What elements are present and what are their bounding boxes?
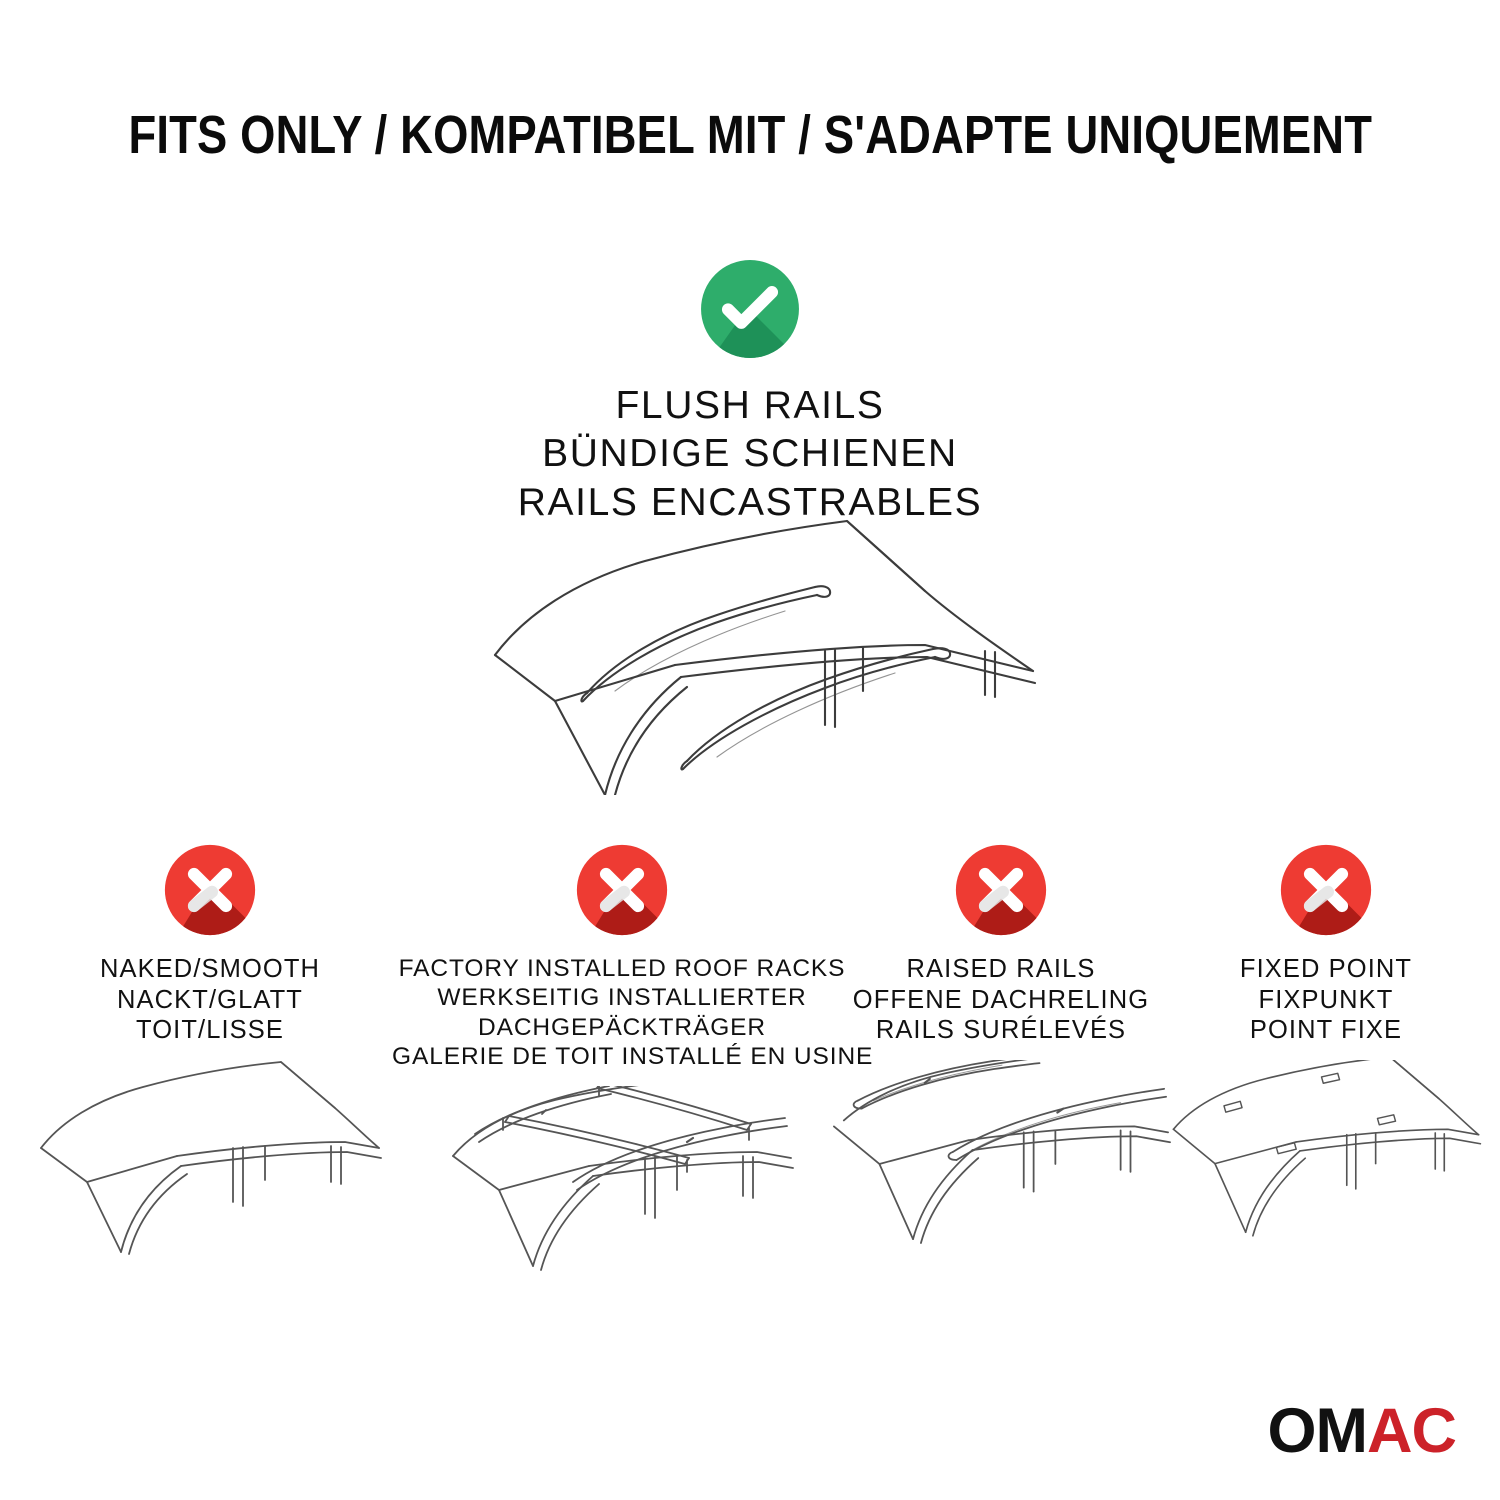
incompatible-section: NAKED/SMOOTH NACKT/GLATT TOIT/LISSE [0,843,1500,1293]
label-fr: GALERIE DE TOIT INSTALLÉ EN USINE [392,1042,852,1071]
label-en: NAKED/SMOOTH [35,954,385,985]
omac-logo: OMAC [1268,1400,1456,1462]
incompatible-labels: FACTORY INSTALLED ROOF RACKS WERKSEITIG … [392,951,852,1072]
green-check-circle-icon [699,258,801,360]
compatible-section: FLUSH RAILS BÜNDIGE SCHIENEN RAILS ENCAS… [0,258,1500,527]
infographic-page: FITS ONLY / KOMPATIBEL MIT / S'ADAPTE UN… [0,0,1500,1500]
label-fr: RAILS SURÉLEVÉS [828,1015,1174,1046]
omac-logo-red-part: AC [1367,1400,1456,1463]
car-roof-with-raised-rails-illustration [828,1060,1174,1260]
label-de-2: DACHGEPÄCKTRÄGER [392,1013,852,1042]
incompatible-item-fixed-point: FIXED POINT FIXPUNKT POINT FIXE [1168,843,1484,1265]
car-roof-with-fixed-points-illustration [1168,1060,1484,1260]
incompatible-labels: NAKED/SMOOTH NACKT/GLATT TOIT/LISSE [35,951,385,1046]
incompatible-labels: RAISED RAILS OFFENE DACHRELING RAILS SUR… [828,951,1174,1046]
incompatible-item-naked-smooth: NAKED/SMOOTH NACKT/GLATT TOIT/LISSE [35,843,385,1265]
car-roof-with-factory-crossbars-illustration [392,1086,852,1286]
badge-wrap [828,843,1174,951]
label-fr: TOIT/LISSE [35,1015,385,1046]
car-roof-with-flush-rails-illustration [455,495,1055,795]
car-roof-naked-smooth-illustration [35,1060,385,1260]
incompatible-item-factory-roof-racks: FACTORY INSTALLED ROOF RACKS WERKSEITIG … [392,843,852,1291]
label-de: OFFENE DACHRELING [828,985,1174,1016]
label-en: FIXED POINT [1168,954,1484,985]
red-x-circle-icon [163,843,257,937]
badge-wrap [1168,843,1484,951]
label-en: FACTORY INSTALLED ROOF RACKS [392,954,852,983]
red-x-circle-icon [954,843,1048,937]
incompatible-labels: FIXED POINT FIXPUNKT POINT FIXE [1168,951,1484,1046]
label-en: RAISED RAILS [828,954,1174,985]
page-title-text: FITS ONLY / KOMPATIBEL MIT / S'ADAPTE UN… [128,104,1372,166]
incompatible-item-raised-rails: RAISED RAILS OFFENE DACHRELING RAILS SUR… [828,843,1174,1265]
compatible-label-de: BÜNDIGE SCHIENEN [0,430,1500,478]
red-x-circle-icon [575,843,669,937]
label-de: NACKT/GLATT [35,985,385,1016]
badge-wrap [35,843,385,951]
badge-wrap [392,843,852,951]
compatible-label-en: FLUSH RAILS [0,382,1500,430]
page-title: FITS ONLY / KOMPATIBEL MIT / S'ADAPTE UN… [0,104,1500,166]
label-de: FIXPUNKT [1168,985,1484,1016]
red-x-circle-icon [1279,843,1373,937]
label-fr: POINT FIXE [1168,1015,1484,1046]
label-de-1: WERKSEITIG INSTALLIERTER [392,983,852,1012]
omac-logo-dark-part: OM [1268,1400,1367,1463]
